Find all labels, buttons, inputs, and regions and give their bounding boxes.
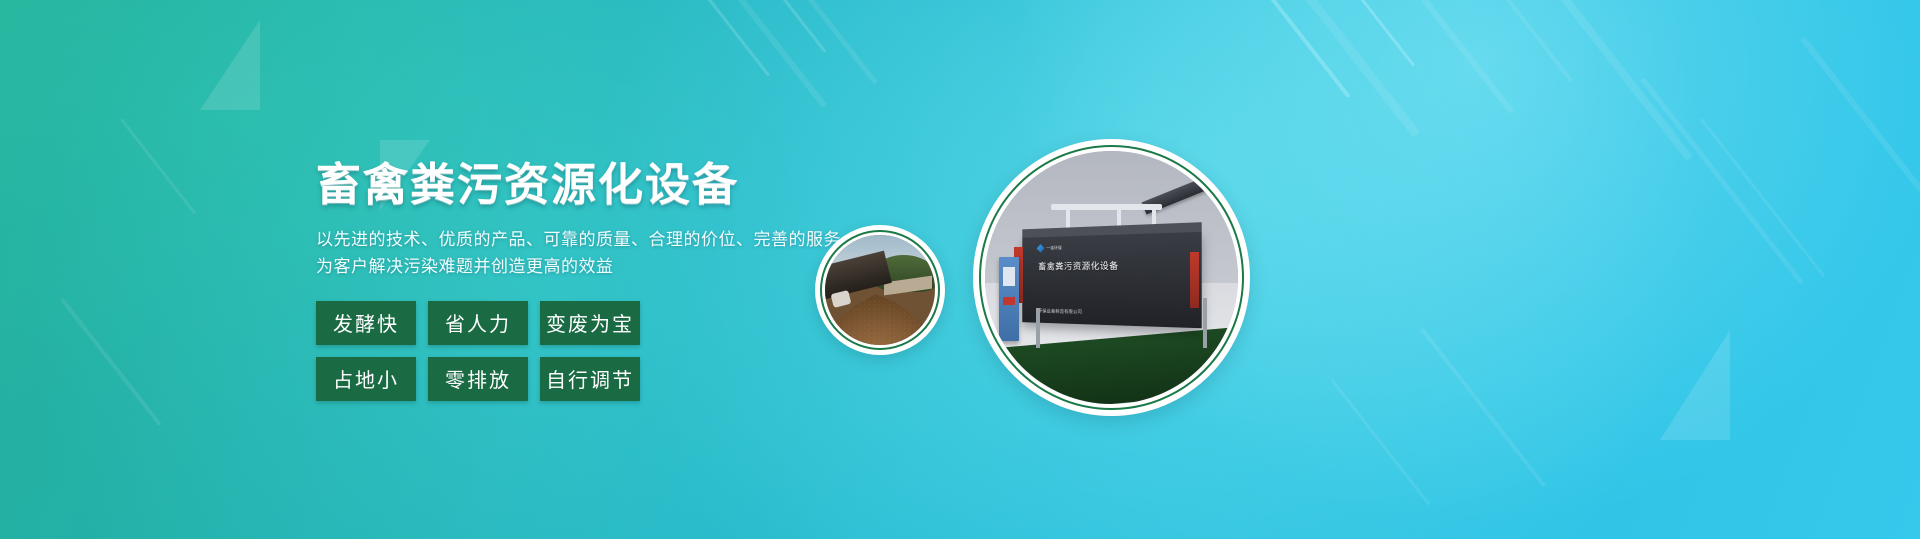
render-red-end-cap	[1190, 252, 1199, 308]
render-support-leg	[1036, 308, 1040, 348]
render-machine-body: 一诺环保 畜禽粪污资源化设备 环保设备制造有限公司	[1023, 231, 1203, 329]
diamond-logo-icon	[1037, 244, 1045, 253]
render-machine-sublabel: 环保设备制造有限公司	[1039, 309, 1083, 316]
feature-tag-self-adjusting[interactable]: 自行调节	[540, 357, 640, 401]
promo-banner: 畜禽粪污资源化设备 以先进的技术、优质的产品、可靠的质量、合理的价位、完善的服务…	[0, 0, 1920, 539]
streak-line	[120, 118, 196, 214]
render-cabinet-screen	[1003, 267, 1016, 285]
feature-tag-labor-saving[interactable]: 省人力	[428, 301, 528, 345]
streak-line	[60, 298, 162, 427]
equipment-render: 一诺环保 畜禽粪污资源化设备 环保设备制造有限公司	[985, 151, 1238, 404]
render-brand-logo: 一诺环保	[1037, 244, 1062, 253]
streak-line	[1255, 0, 1351, 98]
streak-line	[1330, 378, 1431, 506]
photo-truck-panel	[830, 290, 851, 308]
equipment-render-ring: 一诺环保 畜禽粪污资源化设备 环保设备制造有限公司	[979, 145, 1244, 410]
streak-line	[1490, 0, 1573, 82]
render-support-leg	[1203, 298, 1207, 349]
feature-tag-small-footprint[interactable]: 占地小	[316, 357, 416, 401]
background-streaks	[0, 0, 1920, 539]
feature-tag-list: 发酵快 省人力 变废为宝 占地小 零排放 自行调节	[316, 301, 656, 401]
render-cabinet-button	[1003, 297, 1015, 305]
streak-line	[1800, 36, 1920, 276]
streak-line	[1700, 118, 1825, 277]
streak-line	[730, 0, 827, 108]
render-control-cabinet	[999, 257, 1019, 340]
compost-photo-circle	[815, 225, 945, 355]
feature-tag-fast-fermentation[interactable]: 发酵快	[316, 301, 416, 345]
streak-line	[1405, 0, 1514, 114]
feature-tag-waste-to-treasure[interactable]: 变废为宝	[540, 301, 640, 345]
feature-tag-zero-emission[interactable]: 零排放	[428, 357, 528, 401]
render-brand-name: 一诺环保	[1047, 245, 1063, 251]
streak-line	[700, 0, 770, 77]
page-title: 畜禽粪污资源化设备	[316, 160, 936, 210]
streak-line	[1640, 77, 1804, 285]
compost-photo-ring	[820, 230, 940, 350]
streak-line	[1420, 328, 1546, 488]
streak-line	[1290, 0, 1420, 138]
streak-line	[1545, 0, 1693, 161]
render-machine-label: 畜禽粪污资源化设备	[1039, 261, 1186, 274]
compost-photo	[825, 235, 935, 345]
triangle-accent	[200, 20, 260, 110]
streak-line	[800, 0, 878, 85]
equipment-render-circle: 一诺环保 畜禽粪污资源化设备 环保设备制造有限公司	[973, 139, 1250, 416]
triangle-accent	[1660, 330, 1730, 440]
